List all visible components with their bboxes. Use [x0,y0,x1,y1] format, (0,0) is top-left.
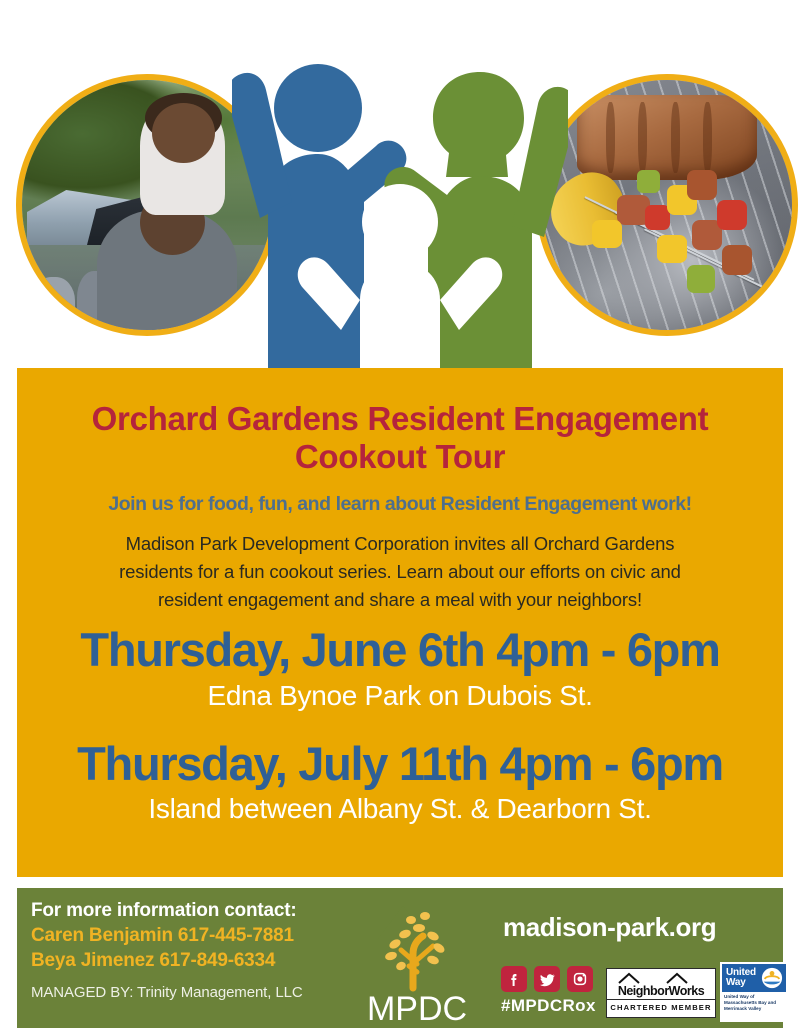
photo-right-kebab-piece [722,245,752,275]
flyer-main-panel: Orchard Gardens Resident Engagement Cook… [17,368,783,877]
united-way-logo: United Way United Way of Massachusetts B… [720,962,788,1022]
event-entry-1: Thursday, June 6th 4pm - 6pm Edna Bynoe … [17,614,783,712]
photo-right-kebab-piece [687,170,717,200]
photo-right-kebab-piece [645,205,670,230]
photo-left-child-head [152,103,215,163]
mpdc-logo: MPDC [347,892,487,1026]
hero-banner [0,0,800,372]
subtitle: Join us for food, fun, and learn about R… [17,477,783,516]
contact-person-2: Beya Jimenez 617-849-6334 [31,950,327,972]
neighborworks-subtitle: CHARTERED MEMBER [607,999,715,1016]
united-way-subtitle: United Way of Massachusetts Bay and Merr… [722,992,786,1013]
title-line-1: Orchard Gardens Resident Engagement [43,400,757,438]
united-way-mark: United Way [722,964,786,992]
photo-right-kebab-piece [637,170,660,193]
neighborworks-mark: NeighborWorks [607,969,715,999]
family-silhouette-graphic [232,50,568,372]
neighborworks-name: NeighborWorks [607,984,715,998]
event-location-1: Edna Bynoe Park on Dubois St. [17,675,783,712]
event-date-2: Thursday, July 11th 4pm - 6pm [17,728,783,789]
united-way-wordmark: United Way [722,968,756,988]
event-location-2: Island between Albany St. & Dearborn St. [17,788,783,825]
title-line-2: Cookout Tour [43,438,757,476]
mpdc-logo-text: MPDC [367,990,467,1026]
body-paragraph: Madison Park Development Corporation inv… [17,516,783,614]
photo-barbecue-grill [536,74,798,336]
contact-heading: For more information contact: [31,900,327,922]
neighborworks-logo: NeighborWorks CHARTERED MEMBER [606,968,716,1018]
photo-right-kebab-piece [717,200,747,230]
photo-right-ribs [577,95,757,180]
contact-block: For more information contact: Caren Benj… [31,900,327,1001]
united-way-rainbow-icon [761,967,783,989]
photo-right-kebab-piece [657,235,687,263]
facebook-icon[interactable] [501,966,527,992]
event-date-1: Thursday, June 6th 4pm - 6pm [17,614,783,675]
hashtag-text: #MPDCRox [501,996,596,1016]
page-title: Orchard Gardens Resident Engagement Cook… [17,368,783,477]
contact-person-1: Caren Benjamin 617-445-7881 [31,925,327,947]
managed-by-text: MANAGED BY: Trinity Management, LLC [31,984,327,1001]
social-links[interactable] [501,966,593,992]
website-link[interactable]: madison-park.org [503,912,716,943]
twitter-icon[interactable] [534,966,560,992]
photo-right-kebab-piece [687,265,715,293]
instagram-icon[interactable] [567,966,593,992]
united-way-line-2: Way [726,978,756,988]
event-entry-2: Thursday, July 11th 4pm - 6pm Island bet… [17,712,783,826]
photo-right-kebab-piece [592,220,622,248]
